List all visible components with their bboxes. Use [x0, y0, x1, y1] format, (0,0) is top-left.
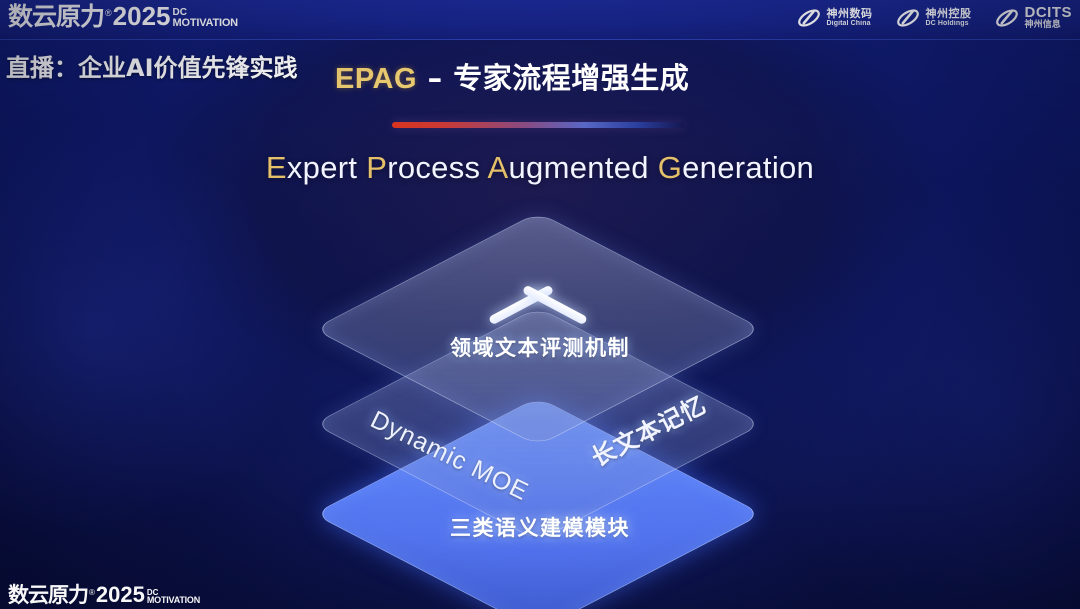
watermark-dc-motivation: DC MOTIVATION	[147, 589, 200, 605]
watermark-year: 2025	[96, 584, 145, 606]
footer-watermark-logo: 数云原力 ® 2025 DC MOTIVATION	[8, 3, 1074, 606]
watermark-registered-icon: ®	[89, 589, 95, 597]
watermark-motivation-label: MOTIVATION	[147, 596, 200, 605]
watermark-name-cn: 数云原力	[8, 585, 88, 606]
